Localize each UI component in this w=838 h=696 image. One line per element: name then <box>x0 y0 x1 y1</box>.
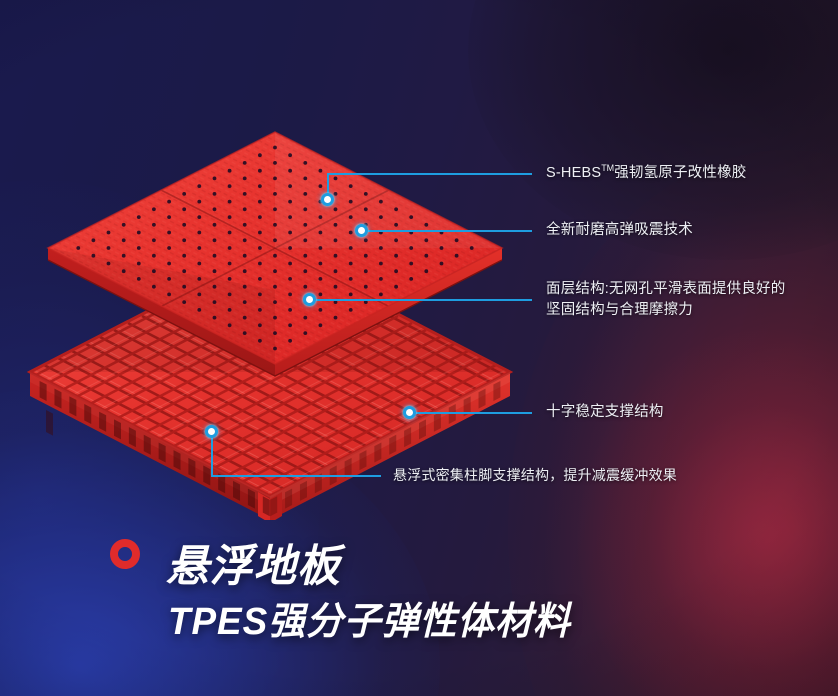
title-block: 悬浮地板 TPES强分子弹性体材料 <box>108 520 748 650</box>
trademark-symbol: TM <box>601 163 614 173</box>
callout-dot-4[interactable] <box>403 406 416 419</box>
callout-dot-1[interactable] <box>321 193 334 206</box>
callout-1-suffix: 强韧氢原子改性橡胶 <box>614 165 746 181</box>
infographic-canvas: S-HEBSTM强韧氢原子改性橡胶 全新耐磨高弹吸震技术 面层结构:无网孔平滑表… <box>0 0 838 696</box>
product-subtitle: TPES强分子弹性体材料 <box>168 590 571 645</box>
callout-dot-3[interactable] <box>303 293 316 306</box>
callout-label-wear-resistant-tech: 全新耐磨高弹吸震技术 <box>546 220 693 241</box>
callout-dot-2[interactable] <box>355 224 368 237</box>
product-title: 悬浮地板 <box>166 530 341 594</box>
callout-1-prefix: S-HEBS <box>546 165 601 181</box>
callout-label-surface-structure: 面层结构:无网孔平滑表面提供良好的 坚固结构与合理摩擦力 <box>546 279 826 321</box>
callout-dot-5[interactable] <box>205 425 218 438</box>
callout-label-shebs-rubber: S-HEBSTM强韧氢原子改性橡胶 <box>546 163 747 184</box>
callout-label-cross-support-structure: 十字稳定支撑结构 <box>546 402 664 423</box>
red-ring-icon <box>110 539 140 569</box>
callout-label-suspended-column-feet: 悬浮式密集柱脚支撑结构，提升减震缓冲效果 <box>393 465 677 486</box>
